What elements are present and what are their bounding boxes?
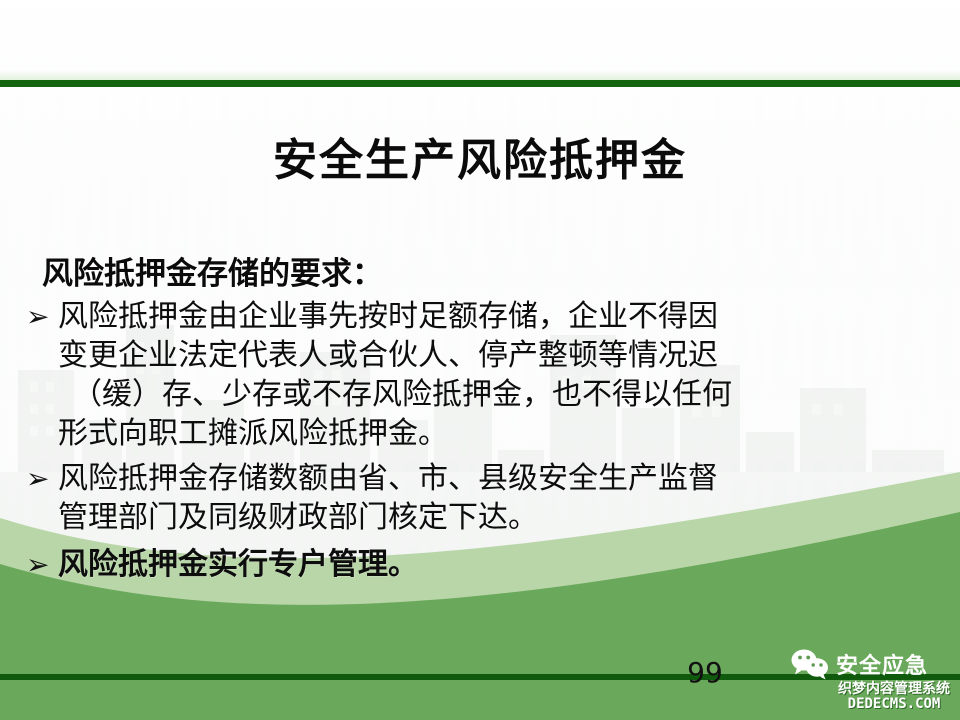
arrow-bullet-icon: ➢ xyxy=(26,459,58,498)
page-number: 99 xyxy=(660,656,750,689)
bullet-line: 风险抵押金存储数额由省、市、县级安全生产监督 xyxy=(58,459,948,498)
bullet-line: 形式向职工摊派风险抵押金。 xyxy=(58,414,948,453)
brand-badge: 安全应急 xyxy=(790,648,928,680)
brand-label: 安全应急 xyxy=(836,648,928,680)
arrow-bullet-icon: ➢ xyxy=(26,297,58,336)
watermark: 织梦内容管理系统 DEDECMS.COM xyxy=(838,682,950,712)
header-rule xyxy=(0,80,960,87)
bullet-item: ➢ 风险抵押金由企业事先按时足额存储，企业不得因 变更企业法定代表人或合伙人、停… xyxy=(26,297,960,453)
page-title: 安全生产风险抵押金 xyxy=(0,124,960,188)
header-glow xyxy=(0,70,960,80)
arrow-bullet-icon: ➢ xyxy=(26,545,58,584)
bullet-item: ➢ 风险抵押金实行专户管理。 xyxy=(26,545,960,584)
bullet-line: 管理部门及同级财政部门核定下达。 xyxy=(58,498,948,537)
slide-body: 风险抵押金存储的要求： ➢ 风险抵押金由企业事先按时足额存储，企业不得因 变更企… xyxy=(0,248,960,584)
bullet-text: 风险抵押金存储数额由省、市、县级安全生产监督 管理部门及同级财政部门核定下达。 xyxy=(58,459,948,537)
bullet-line: 变更企业法定代表人或合伙人、停产整顿等情况迟 xyxy=(58,336,948,375)
slide-canvas: 安全生产风险抵押金 风险抵押金存储的要求： ➢ 风险抵押金由企业事先按时足额存储… xyxy=(0,0,960,720)
bullet-item: ➢ 风险抵押金存储数额由省、市、县级安全生产监督 管理部门及同级财政部门核定下达… xyxy=(26,459,960,537)
watermark-line-cn: 织梦内容管理系统 xyxy=(838,682,950,697)
wechat-icon xyxy=(790,648,830,680)
bullet-line: 风险抵押金由企业事先按时足额存储，企业不得因 xyxy=(58,297,948,336)
section-subheading: 风险抵押金存储的要求： xyxy=(42,248,960,293)
bullet-line: （缓）存、少存或不存风险抵押金，也不得以任何 xyxy=(58,375,948,414)
bullet-line: 风险抵押金实行专户管理。 xyxy=(58,545,948,584)
watermark-line-url: DEDECMS.COM xyxy=(838,697,950,712)
bullet-text: 风险抵押金由企业事先按时足额存储，企业不得因 变更企业法定代表人或合伙人、停产整… xyxy=(58,297,948,453)
bullet-text: 风险抵押金实行专户管理。 xyxy=(58,545,948,584)
